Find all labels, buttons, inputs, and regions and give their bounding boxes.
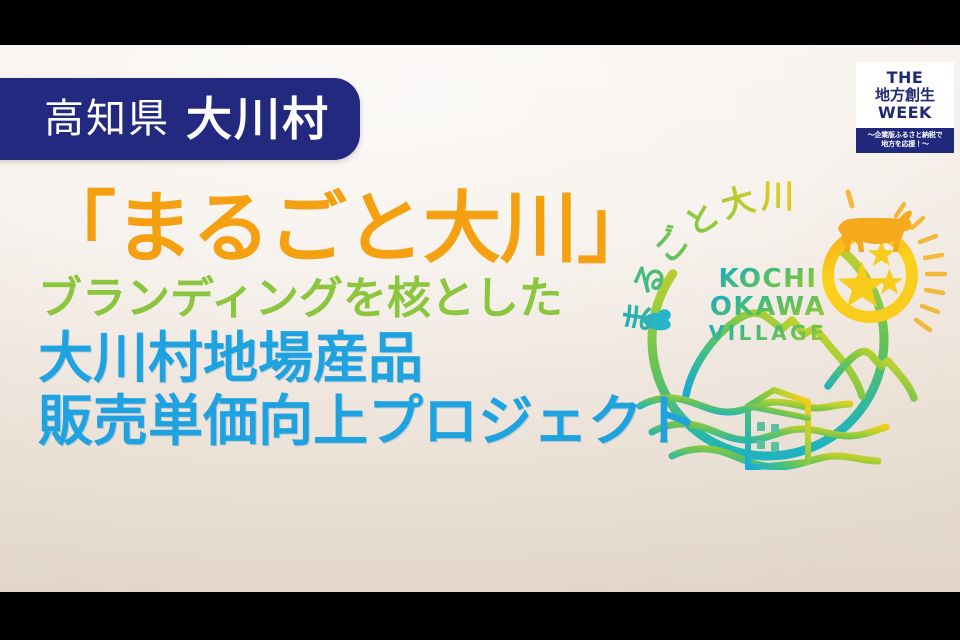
sunray-left-icon	[848, 192, 852, 206]
logo-en-village: VILLAGE	[709, 321, 827, 345]
letterbox-top	[0, 0, 960, 45]
event-badge-the: THE	[860, 69, 950, 87]
headline-block: 「まるごと大川」 ブランディングを核とした 大川村地場産品 販売単価向上プロジェ…	[38, 190, 698, 453]
event-badge-tagline-line1: 〜企業版ふるさと納税で	[858, 131, 952, 140]
village-label: 大川村	[186, 96, 330, 142]
prefecture-label: 高知県	[44, 99, 170, 139]
logo-en-kochi: KOCHI	[718, 264, 817, 294]
project-line-products: 大川村地場産品	[38, 327, 698, 390]
slide-canvas: 高知県 大川村 THE 地方創生 WEEK 〜企業版ふるさと納税で 地方を応援！…	[0, 45, 960, 592]
event-badge-panel: THE 地方創生 WEEK	[856, 62, 954, 128]
event-badge-japanese: 地方創生	[860, 87, 950, 104]
project-subtitle: ブランディングを核とした	[38, 274, 698, 323]
logo-english-lockup: KOCHI OKAWA VILLAGE	[709, 264, 827, 345]
event-badge-week: WEEK	[860, 104, 950, 122]
project-title: 「まるごと大川」	[38, 190, 698, 268]
sun-circle-icon	[828, 233, 912, 317]
letterbox-bottom	[0, 592, 960, 640]
logo-en-okawa: OKAWA	[710, 292, 826, 322]
event-badge: THE 地方創生 WEEK 〜企業版ふるさと納税で 地方を応援！〜	[856, 62, 954, 153]
presentation-slide: 高知県 大川村 THE 地方創生 WEEK 〜企業版ふるさと納税で 地方を応援！…	[0, 0, 960, 640]
project-line-name: 販売単価向上プロジェクト	[38, 390, 698, 453]
event-badge-tagline-line2: 地方を応援！〜	[858, 140, 952, 149]
prefecture-village-badge: 高知県 大川村	[0, 78, 360, 160]
event-badge-tagline: 〜企業版ふるさと納税で 地方を応援！〜	[856, 128, 954, 154]
